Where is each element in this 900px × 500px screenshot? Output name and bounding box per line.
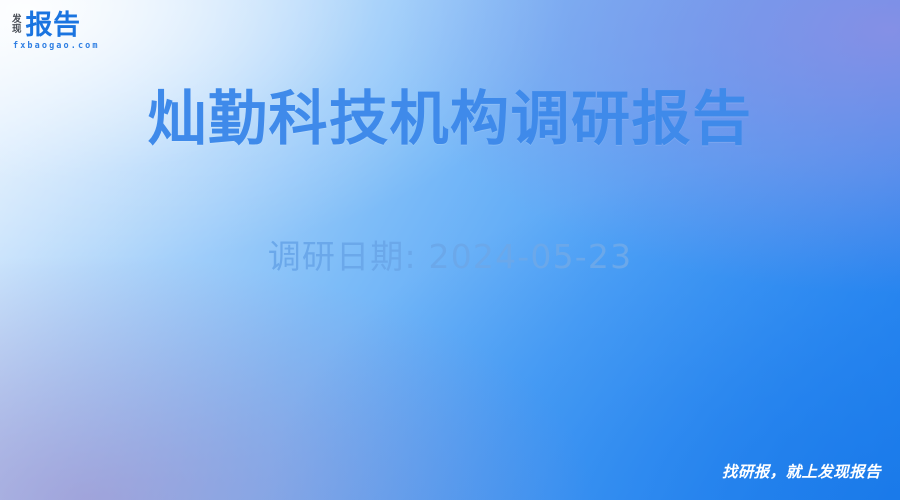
logo-mark-characters: 发 现 [12,11,22,39]
logo-mark-line-2: 现 [12,25,22,35]
report-cover: 发 现 报告 fxbaogao.com 灿勤科技机构调研报告 调研日期: 202… [0,0,900,500]
title-block: 灿勤科技机构调研报告 [0,84,900,154]
logo-lockup: 发 现 报告 [12,9,192,39]
brand-logo[interactable]: 发 现 报告 fxbaogao.com [12,9,192,57]
footer-tagline: 找研报，就上发现报告 [722,460,881,482]
subtitle-block: 调研日期: 2024-05-23 [0,230,900,278]
page-title: 灿勤科技机构调研报告 [0,84,900,154]
logo-domain: fxbaogao.com [13,41,192,51]
survey-date-subtitle: 调研日期: 2024-05-23 [0,230,900,278]
logo-wordmark: 报告 [26,12,81,39]
